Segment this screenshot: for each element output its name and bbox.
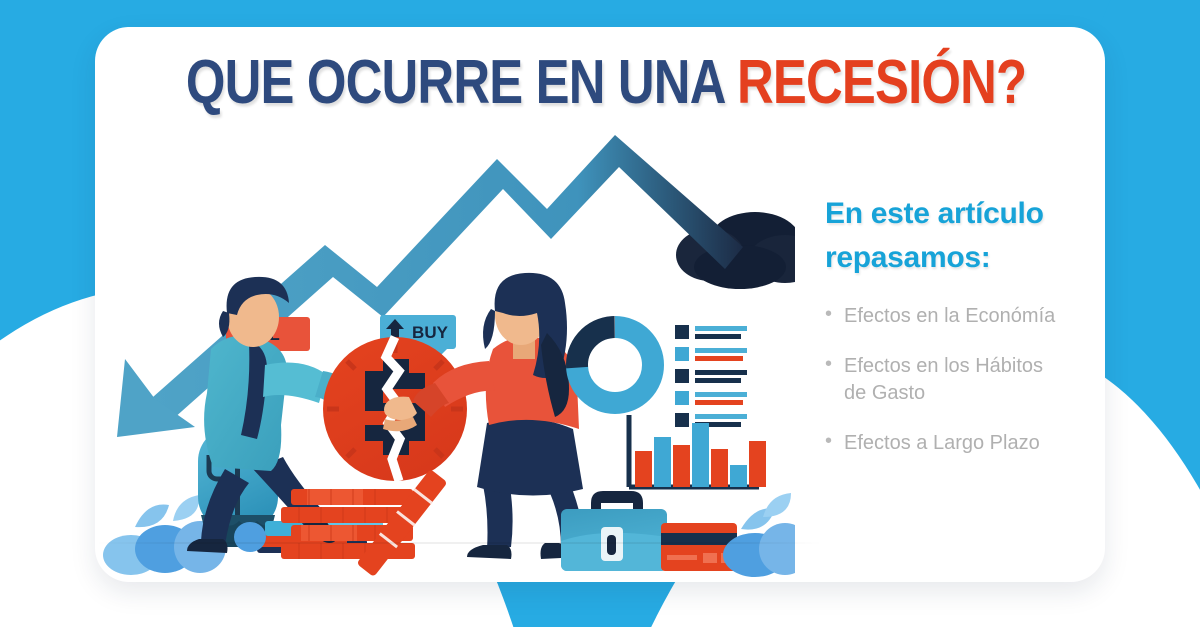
donut-chart — [574, 324, 655, 405]
list-item-label: Efectos a Largo Plazo — [844, 430, 1040, 456]
ground-line — [95, 542, 1105, 544]
legend-row — [675, 391, 747, 405]
infographic-canvas: QUE OCURRE EN UNA RECESIÓN? — [0, 0, 1200, 627]
summary-heading-line1: En este artículo — [825, 192, 1105, 236]
legend-row — [675, 369, 747, 383]
bullet-dot-icon: • — [825, 353, 832, 375]
list-item-label: Efectos en la Económía — [844, 303, 1055, 329]
list-item[interactable]: • Efectos en la Económía — [825, 303, 1105, 329]
svg-text:BUY: BUY — [412, 323, 449, 342]
bullet-dot-icon: • — [825, 303, 832, 325]
list-item-label: Efectos en los Hábitos de Gasto — [844, 353, 1059, 406]
list-item[interactable]: • Efectos en los Hábitos de Gasto — [825, 353, 1105, 406]
content-card: QUE OCURRE EN UNA RECESIÓN? — [95, 27, 1105, 582]
illustration: SELL BUY — [95, 97, 795, 582]
bar-chart — [629, 415, 766, 487]
summary-heading-line2: repasamos: — [825, 236, 1105, 280]
briefcase-icon — [561, 491, 667, 571]
article-summary-panel: En este artículo repasamos: • Efectos en… — [825, 192, 1105, 481]
legend-row — [675, 325, 747, 339]
list-item[interactable]: • Efectos a Largo Plazo — [825, 430, 1105, 456]
legend-row — [675, 413, 747, 427]
summary-heading: En este artículo repasamos: — [825, 192, 1105, 279]
bullet-dot-icon: • — [825, 430, 832, 452]
legend-row — [675, 347, 747, 361]
chart-legend — [675, 325, 747, 427]
summary-bullet-list: • Efectos en la Económía • Efectos en lo… — [825, 303, 1105, 457]
